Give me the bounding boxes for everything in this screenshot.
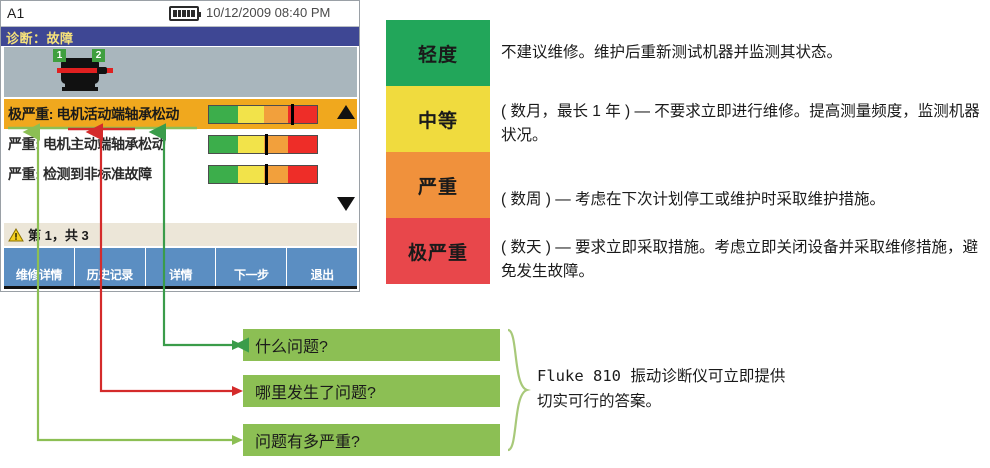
fault-row-2[interactable]: 严重: 电机主动端轴承松动 [4, 129, 357, 159]
legend-description-moderate: ( 数月，最长 1 年 ) — 不要求立即进行维修。提高测量频度，监测机器状况。 [501, 100, 983, 148]
fault-row-1[interactable]: 极严重: 电机活动端轴承松动 [4, 99, 357, 129]
legend-description-light: 不建议维修。维护后重新测试机器并监测其状态。 [501, 41, 983, 65]
measurement-point-2: 2 [92, 49, 105, 62]
question-box-severity: 问题有多严重? [243, 424, 500, 456]
question-box-what: 什么问题? [243, 329, 500, 361]
tagline-line-1: Fluke 810 振动诊断仪可立即提供 [537, 363, 957, 389]
softkey-next[interactable]: 下一步 [215, 248, 286, 286]
machine-diagram-panel: 1 2 [4, 47, 357, 97]
triangle-up-icon[interactable] [337, 105, 355, 119]
legend-cell-light: 轻度 [386, 20, 490, 86]
warning-triangle-icon [8, 228, 24, 242]
measurement-point-1: 1 [53, 49, 66, 62]
device-title-bar: A1 10/12/2009 08:40 PM [1, 1, 359, 27]
datetime-label: 10/12/2009 08:40 PM [206, 5, 330, 20]
legend-cell-extreme: 极严重 [386, 218, 490, 284]
legend-cell-serious: 严重 [386, 152, 490, 218]
curly-brace [505, 328, 531, 452]
severity-marker [265, 164, 268, 185]
severity-legend: 轻度 中等 严重 极严重 [386, 20, 490, 284]
softkey-repair-details[interactable]: 维修详情 [4, 248, 74, 286]
fault-list[interactable]: 极严重: 电机活动端轴承松动 严重: 电机主动端轴承松动 严重: 检测到非标准故… [4, 99, 357, 217]
fault-label: 严重: 电机主动端轴承松动 [4, 134, 204, 154]
fault-label: 极严重: 电机活动端轴承松动 [4, 104, 204, 124]
severity-marker [265, 134, 268, 155]
severity-marker [291, 104, 294, 125]
softkey-details[interactable]: 详情 [145, 248, 216, 286]
tagline: Fluke 810 振动诊断仪可立即提供 切实可行的答案。 [537, 363, 957, 416]
status-bar: 第 1，共 3 [4, 223, 357, 246]
battery-icon [169, 6, 199, 21]
diagnosis-header: 诊断：故障 [1, 27, 359, 46]
fluke-device-screen: A1 10/12/2009 08:40 PM 诊断：故障 1 2 极严重: 电机… [0, 0, 360, 292]
legend-description-extreme: ( 数天 ) — 要求立即采取措施。考虑立即关闭设备并采取维修措施，避免发生故障… [501, 236, 983, 284]
asset-id-label: A1 [7, 5, 25, 21]
severity-bar-1 [208, 105, 318, 124]
legend-description-serious: ( 数周 ) — 考虑在下次计划停工或维护时采取维护措施。 [501, 188, 983, 212]
triangle-down-icon[interactable] [337, 197, 355, 211]
softkey-history[interactable]: 历史记录 [74, 248, 145, 286]
softkey-bar: 维修详情 历史记录 详情 下一步 退出 [4, 248, 357, 289]
tagline-line-2: 切实可行的答案。 [537, 389, 957, 415]
softkey-exit[interactable]: 退出 [286, 248, 357, 286]
legend-cell-moderate: 中等 [386, 86, 490, 152]
question-box-where: 哪里发生了问题? [243, 375, 500, 407]
page-indicator: 第 1，共 3 [28, 225, 89, 244]
fault-row-3[interactable]: 严重: 检测到非标准故障 [4, 159, 357, 189]
severity-bar-3 [208, 165, 318, 184]
severity-bar-2 [208, 135, 318, 154]
fault-label: 严重: 检测到非标准故障 [4, 164, 204, 184]
